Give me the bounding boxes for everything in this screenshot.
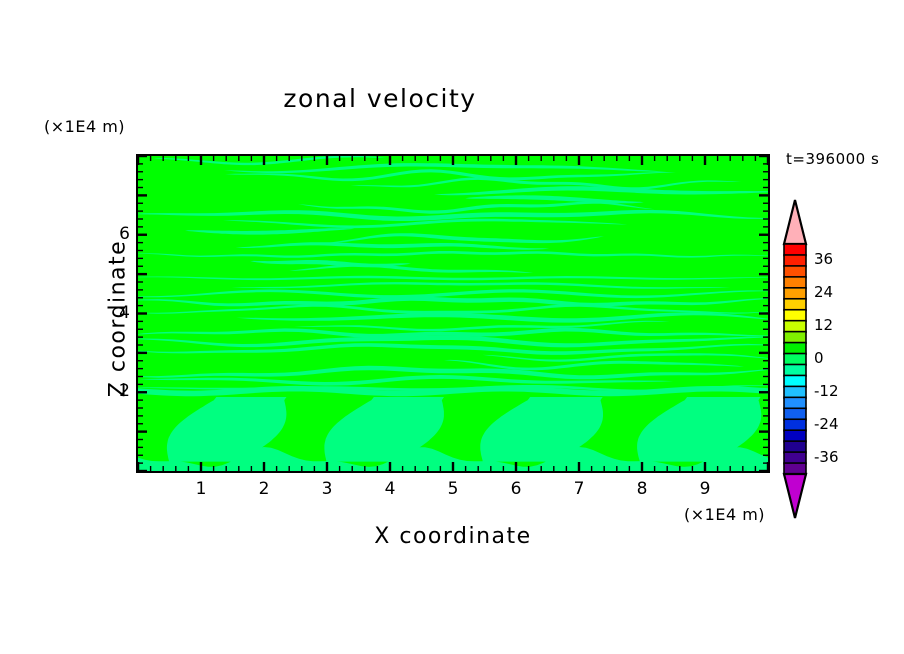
colorbar-tick-label: -24 [814, 415, 839, 433]
colorbar-band [784, 310, 806, 322]
time-stamp-annotation: t=396000 s [786, 150, 879, 168]
colorbar-band [784, 354, 806, 366]
colorbar-band [784, 419, 806, 431]
x-tick-label: 9 [690, 479, 720, 499]
colorbar-band [784, 332, 806, 344]
colorbar-band [784, 364, 806, 376]
colorbar-tick-label: 24 [814, 283, 833, 301]
x-tick-label: 1 [186, 479, 216, 499]
y-axis-unit-label: (×1E4 m) [44, 117, 125, 136]
colorbar-band [784, 321, 806, 333]
x-axis-title: X coordinate [136, 524, 770, 549]
x-tick-label: 6 [501, 479, 531, 499]
x-tick-label: 3 [312, 479, 342, 499]
colorbar-band [784, 299, 806, 311]
colorbar-band [784, 255, 806, 267]
colorbar-band [784, 277, 806, 289]
colorbar-band [784, 266, 806, 278]
x-axis-unit-label: (×1E4 m) [684, 505, 765, 524]
y-tick-label: 2 [100, 381, 130, 401]
axis-tick-marks [136, 154, 770, 473]
y-tick-label: 4 [100, 303, 130, 323]
colorbar-tick-label: 0 [814, 349, 824, 367]
colorbar-band [784, 397, 806, 409]
colorbar-under-range-arrow [784, 474, 806, 518]
colorbar-band [784, 441, 806, 453]
colorbar-tick-label: -12 [814, 382, 839, 400]
colorbar-tick-label: 36 [814, 250, 833, 268]
colorbar [776, 198, 816, 520]
colorbar-band [784, 430, 806, 442]
colorbar-band [784, 452, 806, 464]
colorbar-band [784, 408, 806, 420]
colorbar-band [784, 343, 806, 355]
colorbar-band [784, 244, 806, 256]
colorbar-band [784, 288, 806, 300]
x-tick-label: 7 [564, 479, 594, 499]
x-tick-label: 8 [627, 479, 657, 499]
colorbar-band [784, 375, 806, 387]
x-tick-label: 5 [438, 479, 468, 499]
colorbar-band [784, 463, 806, 475]
colorbar-over-range-arrow [784, 200, 806, 244]
colorbar-band [784, 386, 806, 398]
colorbar-tick-label: 12 [814, 316, 833, 334]
y-tick-label: 6 [100, 224, 130, 244]
x-tick-label: 2 [249, 479, 279, 499]
colorbar-tick-label: -36 [814, 448, 839, 466]
page-title: zonal velocity [0, 84, 760, 113]
x-tick-label: 4 [375, 479, 405, 499]
